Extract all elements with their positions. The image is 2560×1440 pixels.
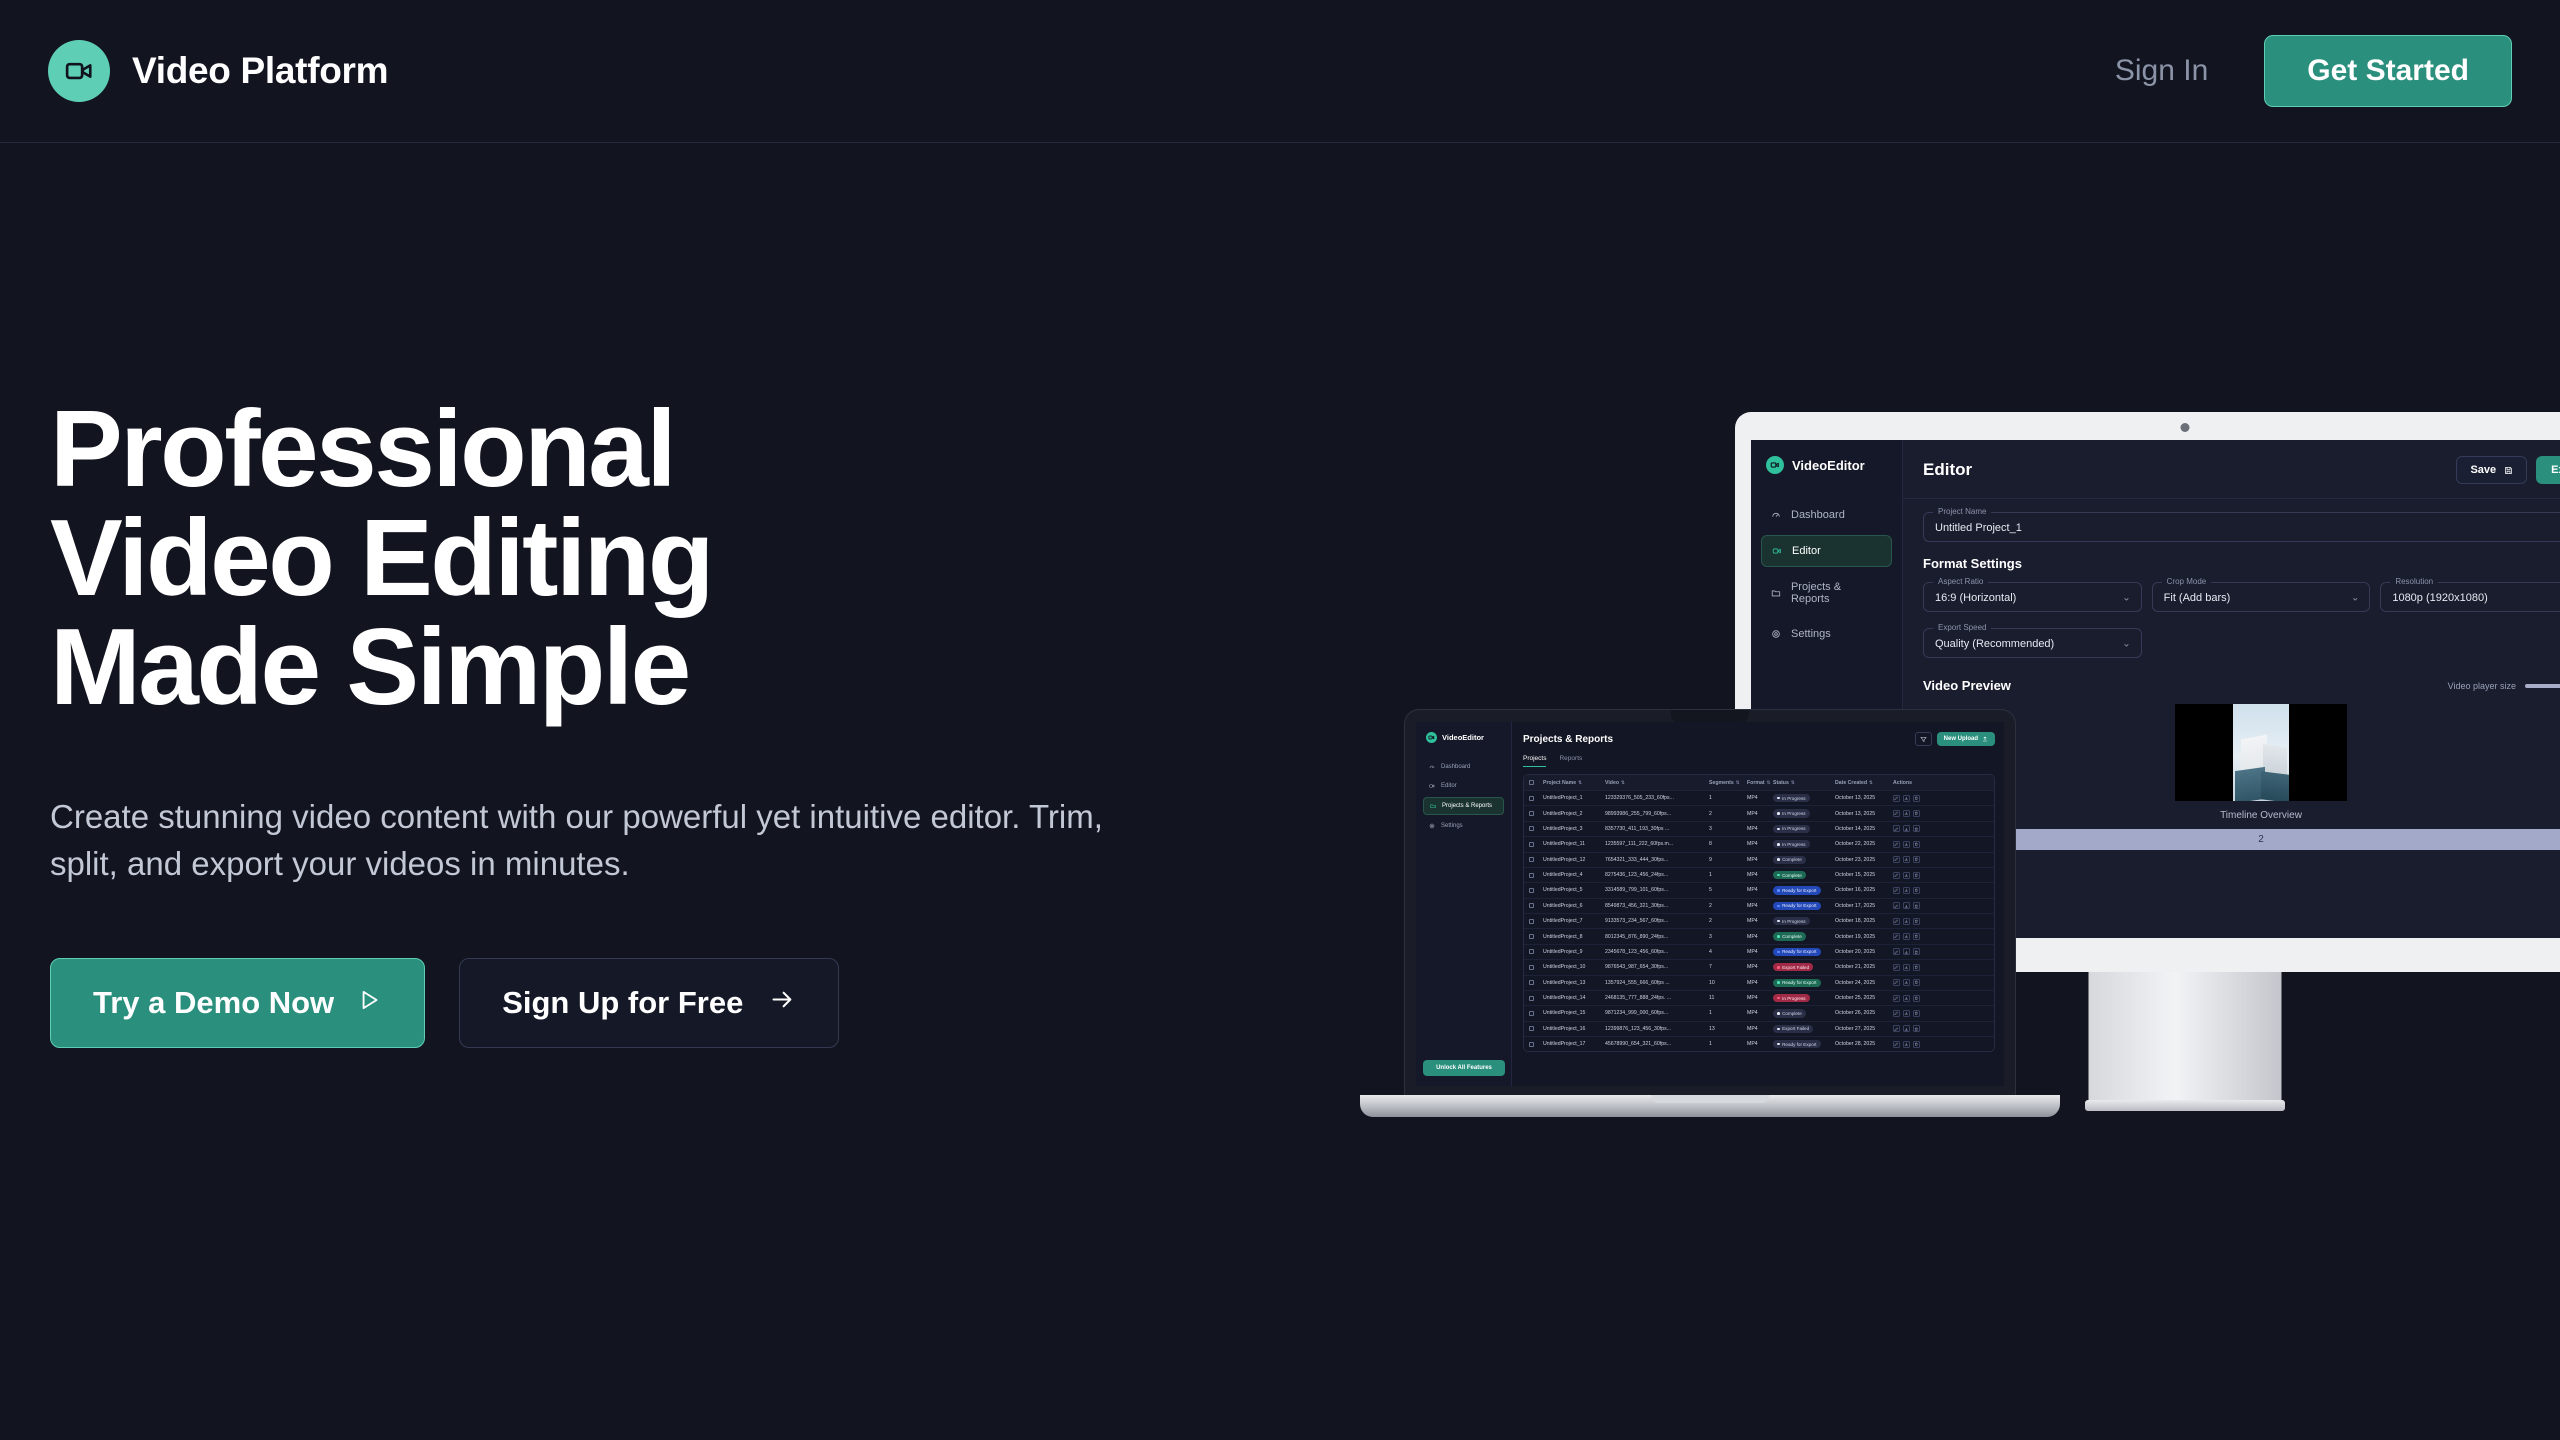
cell-date-created: October 28, 2025 [1835, 1041, 1893, 1047]
sidebar-item-settings[interactable]: Settings [1423, 818, 1504, 834]
table-row[interactable]: UntitledProject_1745678990_654_321_60fps… [1524, 1037, 1994, 1051]
column-video: Video⇅ [1605, 780, 1709, 786]
cell-actions [1893, 810, 1937, 817]
delete-icon[interactable] [1913, 841, 1920, 848]
sidebar-item-editor[interactable]: Editor [1423, 778, 1504, 794]
cell-project-name: UntitledProject_6 [1543, 903, 1605, 909]
cell-segments: 13 [1709, 1026, 1747, 1032]
save-label: Save [2470, 464, 2496, 476]
editor-form: Project Name Untitled Project_1 Format S… [1903, 499, 2560, 664]
cell-actions [1893, 902, 1937, 909]
edit-icon[interactable] [1893, 918, 1900, 925]
download-icon[interactable] [1903, 841, 1910, 848]
edit-icon[interactable] [1893, 902, 1900, 909]
project-name-value: Untitled Project_1 [1935, 522, 2022, 534]
delete-icon[interactable] [1913, 1010, 1920, 1017]
row-checkbox[interactable] [1529, 873, 1534, 878]
download-icon[interactable] [1903, 887, 1910, 894]
laptop-lid: VideoEditor Dashboard Editor [1405, 710, 2015, 1095]
cell-project-name: UntitledProject_15 [1543, 1010, 1605, 1016]
row-checkbox[interactable] [1529, 1042, 1534, 1047]
delete-icon[interactable] [1913, 810, 1920, 817]
cell-format: MP4 [1747, 826, 1773, 832]
sort-icon[interactable]: ⇅ [1736, 780, 1740, 785]
cell-segments: 2 [1709, 811, 1747, 817]
cell-actions [1893, 795, 1937, 802]
download-icon[interactable] [1903, 948, 1910, 955]
cell-format: MP4 [1747, 934, 1773, 940]
table-row[interactable]: UntitledProject_38357730_411_193_30fps .… [1524, 822, 1994, 837]
cell-segments: 1 [1709, 1041, 1747, 1047]
projects-page-title: Projects & Reports [1523, 734, 1613, 745]
sidebar-label: Editor [1792, 545, 1821, 557]
delete-icon[interactable] [1913, 1025, 1920, 1032]
delete-icon[interactable] [1913, 948, 1920, 955]
cell-actions [1893, 887, 1937, 894]
cell-date-created: October 16, 2025 [1835, 887, 1893, 893]
format-settings-heading: Format Settings [1923, 556, 2560, 571]
sidebar-item-editor[interactable]: Editor [1761, 535, 1892, 567]
cell-date-created: October 19, 2025 [1835, 934, 1893, 940]
cell-date-created: October 15, 2025 [1835, 872, 1893, 878]
cell-format: MP4 [1747, 964, 1773, 970]
sort-icon[interactable]: ⇅ [1869, 780, 1873, 785]
cell-video: 2468135_777_888_24fps. ... [1605, 995, 1709, 1001]
table-row[interactable]: UntitledProject_298993986_255_799_60fps.… [1524, 806, 1994, 821]
cell-actions [1893, 933, 1937, 940]
cell-project-name: UntitledProject_17 [1543, 1041, 1605, 1047]
edit-icon[interactable] [1893, 810, 1900, 817]
delete-icon[interactable] [1913, 933, 1920, 940]
status-badge: Ready for Export [1773, 948, 1821, 956]
cell-format: MP4 [1747, 1026, 1773, 1032]
cell-project-name: UntitledProject_2 [1543, 811, 1605, 817]
cell-segments: 1 [1709, 872, 1747, 878]
table-row[interactable]: UntitledProject_79133573_234_567_60fps..… [1524, 914, 1994, 929]
column-actions: Actions [1893, 780, 1937, 786]
edit-icon[interactable] [1893, 795, 1900, 802]
video-camera-icon [1772, 546, 1782, 556]
delete-icon[interactable] [1913, 995, 1920, 1002]
projects-tabs: Projects Reports [1523, 755, 1995, 767]
table-row[interactable]: UntitledProject_53314589_799_101_60fps..… [1524, 883, 1994, 898]
edit-icon[interactable] [1893, 964, 1900, 971]
table-row[interactable]: UntitledProject_142468135_777_888_24fps.… [1524, 991, 1994, 1006]
floppy-disk-icon [2504, 466, 2513, 475]
delete-icon[interactable] [1913, 902, 1920, 909]
cell-date-created: October 13, 2025 [1835, 795, 1893, 801]
cell-status: Complete [1773, 932, 1835, 940]
edit-icon[interactable] [1893, 979, 1900, 986]
sign-up-label: Sign Up for Free [502, 985, 743, 1021]
hero-title-line-2: Video Editing [50, 504, 1230, 613]
filter-button[interactable] [1915, 732, 1932, 746]
cell-date-created: October 24, 2025 [1835, 980, 1893, 986]
header-actions: Sign In Get Started [2115, 35, 2512, 107]
video-preview-player[interactable] [2175, 704, 2347, 801]
editor-toolbar-buttons: Save Export [2456, 456, 2560, 484]
chevron-down-icon: ⌄ [2351, 593, 2359, 604]
cell-video: 8357730_411_193_30fps ... [1605, 826, 1709, 832]
cell-actions [1893, 995, 1937, 1002]
try-demo-button[interactable]: Try a Demo Now [50, 958, 425, 1048]
cell-format: MP4 [1747, 903, 1773, 909]
cell-actions [1893, 979, 1937, 986]
cell-video: 1235597_111_222_60fps.m... [1605, 841, 1709, 847]
download-icon[interactable] [1903, 1010, 1910, 1017]
export-speed-select[interactable]: Export Speed Quality (Recommended) ⌄ [1923, 628, 2142, 658]
row-checkbox[interactable] [1529, 796, 1534, 801]
projects-sidebar: VideoEditor Dashboard Editor [1416, 722, 1512, 1086]
row-checkbox[interactable] [1529, 857, 1534, 862]
row-checkbox[interactable] [1529, 903, 1534, 908]
video-preview-bar: Video Preview Video player size [1903, 664, 2560, 693]
table-row[interactable]: UntitledProject_48275436_123_456_24fps..… [1524, 868, 1994, 883]
projects-nav: Dashboard Editor Projects & Reports [1423, 759, 1504, 834]
delete-icon[interactable] [1913, 979, 1920, 986]
filter-icon [1920, 736, 1927, 743]
laptop-mockup: VideoEditor Dashboard Editor [1360, 710, 2060, 1130]
gear-icon [1429, 823, 1435, 829]
edit-icon[interactable] [1893, 872, 1900, 879]
row-checkbox[interactable] [1529, 826, 1534, 831]
status-badge: Complete [1773, 1009, 1806, 1017]
player-size-control[interactable]: Video player size [2448, 681, 2560, 691]
video-frame-image [2233, 704, 2289, 801]
status-badge: In Progress [1773, 825, 1810, 833]
status-badge: Complete [1773, 871, 1806, 879]
laptop-notch [1671, 710, 1749, 722]
brand[interactable]: Video Platform [48, 40, 388, 102]
table-row[interactable]: UntitledProject_1123329376_505_233_60fps… [1524, 791, 1994, 806]
device-mockups: VideoEditor Dashboard [1360, 390, 2560, 1190]
status-badge: In Progress [1773, 994, 1810, 1002]
cell-status: In Progress [1773, 917, 1835, 925]
chevron-down-icon: ⌄ [2122, 593, 2130, 604]
cell-actions [1893, 856, 1937, 863]
cell-segments: 11 [1709, 995, 1747, 1001]
brand-name: Video Platform [132, 50, 388, 92]
download-icon[interactable] [1903, 964, 1910, 971]
cell-status: Ready for Export [1773, 1040, 1835, 1048]
cell-actions [1893, 1041, 1937, 1048]
sidebar-label: Projects & Reports [1791, 581, 1882, 605]
tab-projects[interactable]: Projects [1523, 755, 1546, 767]
gauge-icon [1771, 510, 1781, 520]
cell-video: 98993986_255_799_60fps... [1605, 811, 1709, 817]
cell-date-created: October 17, 2025 [1835, 903, 1893, 909]
delete-icon[interactable] [1913, 918, 1920, 925]
download-icon[interactable] [1903, 902, 1910, 909]
status-badge: Ready for Export [1773, 979, 1821, 987]
chevron-down-icon: ⌄ [2122, 639, 2130, 650]
cell-date-created: October 20, 2025 [1835, 949, 1893, 955]
edit-icon[interactable] [1893, 887, 1900, 894]
cell-actions [1893, 964, 1937, 971]
cell-video: 8275436_123_456_24fps... [1605, 872, 1709, 878]
delete-icon[interactable] [1913, 795, 1920, 802]
delete-icon[interactable] [1913, 856, 1920, 863]
cell-format: MP4 [1747, 811, 1773, 817]
row-checkbox[interactable] [1529, 1011, 1534, 1016]
sidebar-label: Projects & Reports [1442, 803, 1492, 809]
table-header-row: Project Name⇅ Video⇅ Segments⇅ Format⇅ S… [1524, 775, 1994, 791]
get-started-button[interactable]: Get Started [2264, 35, 2512, 107]
folder-icon [1430, 803, 1436, 809]
cell-video: 7654321_333_444_30fps... [1605, 857, 1709, 863]
cell-date-created: October 26, 2025 [1835, 1010, 1893, 1016]
cell-date-created: October 13, 2025 [1835, 811, 1893, 817]
cell-format: MP4 [1747, 857, 1773, 863]
sidebar-item-projects-reports[interactable]: Projects & Reports [1423, 797, 1504, 815]
project-name-label: Project Name [1933, 507, 1991, 516]
cell-project-name: UntitledProject_10 [1543, 964, 1605, 970]
sort-icon[interactable]: ⇅ [1578, 780, 1582, 785]
delete-icon[interactable] [1913, 887, 1920, 894]
edit-icon[interactable] [1893, 825, 1900, 832]
sidebar-item-dashboard[interactable]: Dashboard [1423, 759, 1504, 775]
folder-icon [1771, 588, 1781, 598]
edit-icon[interactable] [1893, 1010, 1900, 1017]
cell-segments: 1 [1709, 1010, 1747, 1016]
format-settings-grid: Aspect Ratio 16:9 (Horizontal) ⌄ Crop Mo… [1923, 582, 2560, 664]
upload-icon [1982, 736, 1988, 742]
status-badge: In Progress [1773, 917, 1810, 925]
table-row[interactable]: UntitledProject_1612399876_123_456_30fps… [1524, 1022, 1994, 1037]
edit-icon[interactable] [1893, 1041, 1900, 1048]
cell-format: MP4 [1747, 841, 1773, 847]
sidebar-label: Editor [1441, 783, 1457, 789]
cell-segments: 5 [1709, 887, 1747, 893]
download-icon[interactable] [1903, 918, 1910, 925]
projects-main: Projects & Reports New Upload [1512, 722, 2004, 1086]
video-camera-icon [1429, 783, 1435, 789]
hero-actions: Try a Demo Now Sign Up for Free [50, 958, 1230, 1048]
projects-app: VideoEditor Dashboard Editor [1416, 722, 2004, 1086]
tab-reports[interactable]: Reports [1559, 755, 1582, 767]
gauge-icon [1429, 764, 1435, 770]
export-button[interactable]: Export [2536, 456, 2560, 484]
cell-actions [1893, 825, 1937, 832]
projects-brand: VideoEditor [1423, 732, 1504, 743]
sidebar-item-dashboard[interactable]: Dashboard [1761, 500, 1892, 530]
status-badge: In Progress [1773, 840, 1810, 848]
player-size-slider[interactable] [2525, 684, 2560, 688]
monitor-stand-neck [2089, 972, 2282, 1107]
aspect-ratio-select[interactable]: Aspect Ratio 16:9 (Horizontal) ⌄ [1923, 582, 2142, 612]
edit-icon[interactable] [1893, 995, 1900, 1002]
delete-icon[interactable] [1913, 1041, 1920, 1048]
download-icon[interactable] [1903, 933, 1910, 940]
table-row[interactable]: UntitledProject_68549873_456_321_30fps..… [1524, 899, 1994, 914]
cell-date-created: October 14, 2025 [1835, 826, 1893, 832]
status-badge: Complete [1773, 932, 1806, 940]
delete-icon[interactable] [1913, 964, 1920, 971]
download-icon[interactable] [1903, 979, 1910, 986]
cell-project-name: UntitledProject_14 [1543, 995, 1605, 1001]
play-triangle-icon [356, 985, 382, 1021]
cell-status: Export Failed [1773, 963, 1835, 971]
download-icon[interactable] [1903, 872, 1910, 879]
sidebar-item-projects-reports[interactable]: Projects & Reports [1761, 572, 1892, 614]
cell-project-name: UntitledProject_9 [1543, 949, 1605, 955]
sign-up-free-button[interactable]: Sign Up for Free [459, 958, 839, 1048]
download-icon[interactable] [1903, 1025, 1910, 1032]
table-row[interactable]: UntitledProject_88012345_876_890_24fps..… [1524, 929, 1994, 944]
cell-format: MP4 [1747, 949, 1773, 955]
download-icon[interactable] [1903, 995, 1910, 1002]
sidebar-label: Settings [1441, 823, 1463, 829]
sidebar-label: Dashboard [1441, 764, 1470, 770]
cell-project-name: UntitledProject_1 [1543, 795, 1605, 801]
sidebar-item-settings[interactable]: Settings [1761, 619, 1892, 649]
cell-format: MP4 [1747, 918, 1773, 924]
download-icon[interactable] [1903, 810, 1910, 817]
cell-video: 9876543_987_654_30fps... [1605, 964, 1709, 970]
cell-project-name: UntitledProject_7 [1543, 918, 1605, 924]
cell-segments: 2 [1709, 903, 1747, 909]
row-checkbox[interactable] [1529, 842, 1534, 847]
save-button[interactable]: Save [2456, 456, 2527, 484]
cell-segments: 7 [1709, 964, 1747, 970]
row-checkbox[interactable] [1529, 965, 1534, 970]
landing-page: Video Platform Sign In Get Started Profe… [0, 0, 2560, 1440]
sign-in-button[interactable]: Sign In [2115, 54, 2208, 88]
monitor-stand-foot [2085, 1100, 2285, 1111]
sort-icon[interactable]: ⇅ [1621, 780, 1625, 785]
video-preview-title: Video Preview [1923, 678, 2011, 693]
row-checkbox[interactable] [1529, 996, 1534, 1001]
field-value: 16:9 (Horizontal) [1935, 592, 2016, 604]
download-icon[interactable] [1903, 825, 1910, 832]
arrow-right-icon [769, 985, 796, 1021]
row-checkbox[interactable] [1529, 1026, 1534, 1031]
cell-date-created: October 25, 2025 [1835, 995, 1893, 1001]
cell-date-created: October 23, 2025 [1835, 857, 1893, 863]
row-checkbox[interactable] [1529, 919, 1534, 924]
cell-video: 2345678_123_456_60fps... [1605, 949, 1709, 955]
cell-date-created: October 27, 2025 [1835, 1026, 1893, 1032]
cell-video: 3314589_799_101_60fps... [1605, 887, 1709, 893]
download-icon[interactable] [1903, 856, 1910, 863]
cell-status: Ready for Export [1773, 902, 1835, 910]
cell-video: 123329376_505_233_60fps... [1605, 795, 1709, 801]
try-demo-label: Try a Demo Now [93, 985, 334, 1021]
download-icon[interactable] [1903, 1041, 1910, 1048]
cell-project-name: UntitledProject_8 [1543, 934, 1605, 940]
select-all-checkbox[interactable] [1529, 780, 1534, 785]
field-value: 1080p (1920x1080) [2392, 592, 2487, 604]
column-project-name: Project Name⇅ [1543, 780, 1605, 786]
table-row[interactable]: UntitledProject_111235597_111_222_60fps.… [1524, 837, 1994, 852]
cell-project-name: UntitledProject_11 [1543, 841, 1605, 847]
table-row[interactable]: UntitledProject_159871234_999_000_60fps.… [1524, 1006, 1994, 1021]
crop-mode-select[interactable]: Crop Mode Fit (Add bars) ⌄ [2152, 582, 2371, 612]
cell-format: MP4 [1747, 1010, 1773, 1016]
cell-project-name: UntitledProject_12 [1543, 857, 1605, 863]
editor-brand: VideoEditor [1761, 456, 1892, 474]
edit-icon[interactable] [1893, 856, 1900, 863]
project-name-field[interactable]: Project Name Untitled Project_1 [1923, 512, 2560, 542]
edit-icon[interactable] [1893, 933, 1900, 940]
cell-segments: 3 [1709, 826, 1747, 832]
cell-format: MP4 [1747, 1041, 1773, 1047]
cell-project-name: UntitledProject_4 [1543, 872, 1605, 878]
row-checkbox[interactable] [1529, 980, 1534, 985]
cell-segments: 2 [1709, 918, 1747, 924]
hero-title-line-1: Professional [50, 395, 1230, 504]
sort-icon[interactable]: ⇅ [1791, 780, 1795, 785]
video-camera-icon [48, 40, 110, 102]
editor-page-title: Editor [1923, 460, 1972, 480]
projects-brand-name: VideoEditor [1442, 733, 1484, 742]
hero-title-line-3: Made Simple [50, 613, 1230, 722]
edit-icon[interactable] [1893, 841, 1900, 848]
site-header: Video Platform Sign In Get Started [0, 0, 2560, 143]
row-checkbox[interactable] [1529, 949, 1534, 954]
column-date-created: Date Created⇅ [1835, 780, 1893, 786]
laptop-base-notch [1651, 1095, 1769, 1103]
editor-toolbar: Editor Save Export [1903, 440, 2560, 499]
table-row[interactable]: UntitledProject_109876543_987_654_30fps.… [1524, 960, 1994, 975]
row-checkbox[interactable] [1529, 811, 1534, 816]
cell-actions [1893, 1025, 1937, 1032]
download-icon[interactable] [1903, 795, 1910, 802]
delete-icon[interactable] [1913, 872, 1920, 879]
gear-icon [1771, 629, 1781, 639]
edit-icon[interactable] [1893, 948, 1900, 955]
webcam-icon [2181, 423, 2190, 432]
sidebar-label: Dashboard [1791, 509, 1845, 521]
cell-status: Ready for Export [1773, 979, 1835, 987]
delete-icon[interactable] [1913, 825, 1920, 832]
cell-format: MP4 [1747, 795, 1773, 801]
resolution-select[interactable]: Resolution 1080p (1920x1080) ⌄ [2380, 582, 2560, 612]
cell-actions [1893, 841, 1937, 848]
cell-status: Complete [1773, 871, 1835, 879]
sort-icon[interactable]: ⇅ [1767, 780, 1771, 785]
cell-status: Ready for Export [1773, 948, 1835, 956]
table-row[interactable]: UntitledProject_131357924_555_666_60fps … [1524, 976, 1994, 991]
cell-segments: 3 [1709, 934, 1747, 940]
video-camera-icon [1426, 732, 1437, 743]
status-badge: Ready for Export [1773, 902, 1821, 910]
status-badge: Ready for Export [1773, 1040, 1821, 1048]
cell-actions [1893, 948, 1937, 955]
table-row[interactable]: UntitledProject_92345678_123_456_60fps..… [1524, 945, 1994, 960]
cell-project-name: UntitledProject_13 [1543, 980, 1605, 986]
cell-status: In Progress [1773, 994, 1835, 1002]
cell-video: 8549873_456_321_30fps... [1605, 903, 1709, 909]
cell-actions [1893, 918, 1937, 925]
cell-status: Complete [1773, 856, 1835, 864]
status-badge: In Progress [1773, 809, 1810, 817]
field-label: Resolution [2390, 577, 2438, 586]
edit-icon[interactable] [1893, 1025, 1900, 1032]
row-checkbox[interactable] [1529, 934, 1534, 939]
video-camera-icon [1766, 456, 1784, 474]
table-row[interactable]: UntitledProject_127654321_333_444_30fps.… [1524, 853, 1994, 868]
unlock-all-features-button[interactable]: Unlock All Features [1423, 1060, 1505, 1076]
cell-actions [1893, 1010, 1937, 1017]
cell-video: 45678990_654_321_60fps... [1605, 1041, 1709, 1047]
row-checkbox[interactable] [1529, 888, 1534, 893]
cell-actions [1893, 872, 1937, 879]
projects-header: Projects & Reports New Upload [1523, 732, 1995, 746]
column-segments: Segments⇅ [1709, 780, 1747, 786]
cell-status: In Progress [1773, 809, 1835, 817]
new-upload-button[interactable]: New Upload [1937, 732, 1995, 746]
